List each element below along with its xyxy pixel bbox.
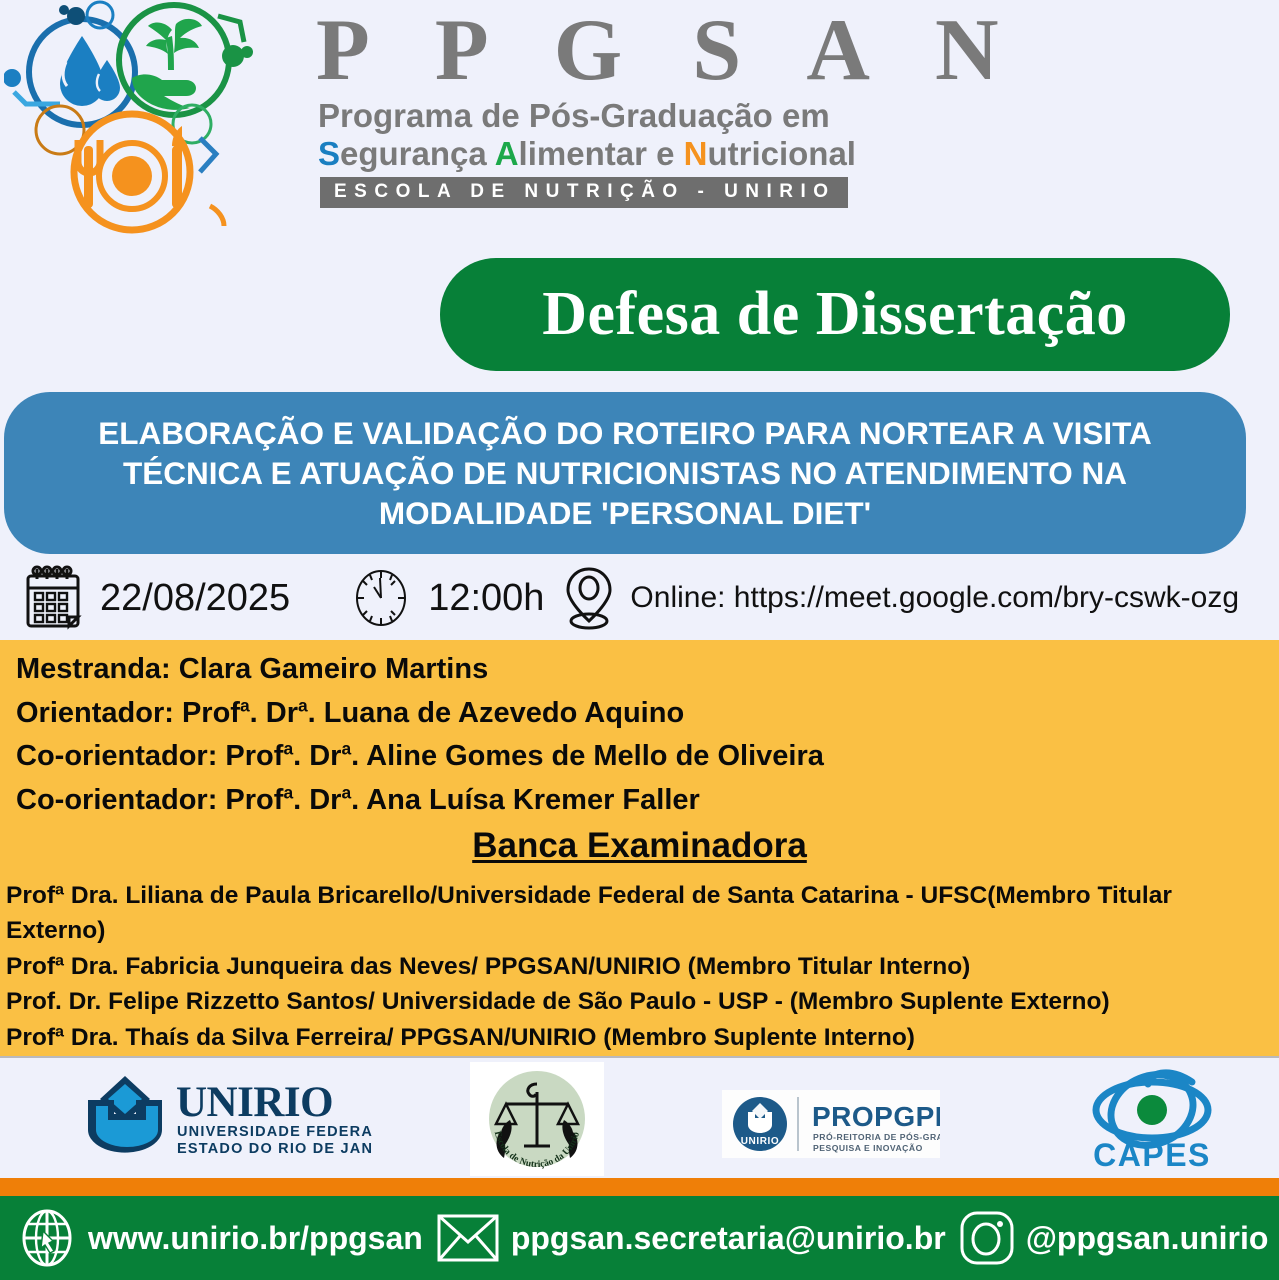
poster-root: P P G S A N Programa de Pós-Graduação em… (0, 0, 1279, 1280)
unirio-logo-icon: UNIRIO UNIVERSIDADE FEDERAL DO ESTADO DO… (72, 1074, 372, 1164)
coadvisor1-name: Aline Gomes de Mello de Oliveira (366, 740, 824, 772)
coadvisor1-label: Co-orientador: (16, 740, 217, 772)
student-label: Mestranda: (16, 653, 171, 685)
advisor-title-sup-a: a (240, 695, 250, 715)
svg-text:UNIRIO: UNIRIO (176, 1079, 333, 1126)
svg-text:PESQUISA E INOVAÇÃO: PESQUISA E INOVAÇÃO (813, 1143, 923, 1153)
escola-nutricao-logo-icon: Escola de Nutrição da Unirio (470, 1062, 604, 1176)
event-location: Online: https://meet.google.com/bry-cswk… (560, 563, 1239, 633)
contact-footer: www.unirio.br/ppgsan ppgsan.secretaria@u… (0, 1196, 1279, 1280)
advisor-name: Luana de Azevedo Aquino (324, 697, 684, 729)
event-meta-row: 22/08/2025 12:00h Online: https:/ (0, 558, 1279, 638)
ppgsan-word-alimentar: limentar e (519, 135, 684, 172)
svg-text:PROPGPI: PROPGPI (812, 1101, 940, 1132)
footer-email[interactable]: ppgsan.secretaria@unirio.br (435, 1209, 946, 1267)
event-time-text: 12:00h (428, 577, 544, 620)
footer-instagram-text: @ppgsan.unirio (1026, 1220, 1269, 1257)
ppgsan-logo-wordmark: P P G S A N Programa de Pós-Graduação em… (310, 4, 1023, 208)
footer-website-text: www.unirio.br/ppgsan (88, 1220, 423, 1257)
coadvisor2-row: Co-orientador: Profa. Dra. Ana Luísa Kre… (0, 779, 1279, 823)
orange-divider (0, 1178, 1279, 1196)
list-item: Prof. Dr. Felipe Rizzetto Santos/ Univer… (6, 984, 1271, 1020)
instagram-icon (958, 1209, 1016, 1267)
globe-icon (18, 1207, 76, 1269)
student-name: Clara Gameiro Martins (179, 653, 488, 685)
capes-logo-icon: CAPES (1080, 1066, 1240, 1176)
unirio-logo: UNIRIO UNIVERSIDADE FEDERAL DO ESTADO DO… (72, 1074, 372, 1169)
ppgsan-initial-a: A (495, 135, 519, 172)
ppgsan-word-nutricional: utricional (707, 135, 856, 172)
ppgsan-subtitle-line2: Segurança Alimentar e Nutricional (310, 135, 856, 173)
clock-icon (350, 565, 412, 631)
defense-type-label: Defesa de Dissertação (542, 279, 1128, 350)
ppgsan-subtitle-line1: Programa de Pós-Graduação em (310, 97, 830, 135)
event-time: 12:00h (350, 565, 544, 631)
ppgsan-word-seguranca: egurança (340, 135, 495, 172)
svg-text:CAPES: CAPES (1093, 1137, 1211, 1173)
ppgsan-logo-mark (4, 0, 304, 240)
map-pin-icon (560, 563, 618, 633)
event-location-text: Online: https://meet.google.com/bry-cswk… (630, 581, 1239, 615)
dissertation-title: ELABORAÇÃO E VALIDAÇÃO DO ROTEIRO PARA N… (34, 413, 1216, 533)
footer-website[interactable]: www.unirio.br/ppgsan (18, 1207, 423, 1269)
advisor-title-sup-a2: a (298, 695, 308, 715)
dissertation-title-box: ELABORAÇÃO E VALIDAÇÃO DO ROTEIRO PARA N… (4, 392, 1246, 554)
ppgsan-initial-s: S (318, 135, 340, 172)
coadvisor1-row: Co-orientador: Profa. Dra. Aline Gomes d… (0, 735, 1279, 779)
committee-heading: Banca Examinadora (0, 824, 1279, 868)
sponsor-logo-band: UNIRIO UNIVERSIDADE FEDERAL DO ESTADO DO… (0, 1060, 1279, 1178)
svg-text:PRÓ-REITORIA DE PÓS-GRADUAÇÃO,: PRÓ-REITORIA DE PÓS-GRADUAÇÃO, (813, 1131, 940, 1142)
svg-text:ESTADO DO RIO DE JANEIRO: ESTADO DO RIO DE JANEIRO (177, 1141, 372, 1157)
advisor-row: Orientador: Profa. Dra. Luana de Azevedo… (0, 692, 1279, 736)
propgpi-logo: UNIRIO PROPGPI PRÓ-REITORIA DE PÓS-GRADU… (722, 1090, 940, 1163)
defense-type-banner: Defesa de Dissertação (440, 258, 1230, 371)
event-date: 22/08/2025 (22, 565, 290, 631)
ppgsan-logo-header: P P G S A N Programa de Pós-Graduação em… (0, 0, 1279, 250)
propgpi-logo-icon: UNIRIO PROPGPI PRÓ-REITORIA DE PÓS-GRADU… (722, 1090, 940, 1158)
coadvisor2-label: Co-orientador: (16, 784, 217, 816)
footer-instagram[interactable]: @ppgsan.unirio (958, 1209, 1269, 1267)
list-item: Profª Dra. Liliana de Paula Bricarello/U… (6, 878, 1271, 949)
ppgsan-school-strip: ESCOLA DE NUTRIÇÃO - UNIRIO (320, 177, 848, 208)
list-item: Profª Dra. Thaís da Silva Ferreira/ PPGS… (6, 1020, 1271, 1056)
coadvisor2-title-sup-a: a (283, 782, 293, 802)
ppgsan-acronym: P P G S A N (310, 4, 1023, 97)
footer-email-text: ppgsan.secretaria@unirio.br (511, 1220, 946, 1257)
ppgsan-initial-n: N (684, 135, 708, 172)
coadvisor2-name: Ana Luísa Kremer Faller (366, 784, 700, 816)
coadvisor2-title-sup-a2: a (341, 782, 351, 802)
student-row: Mestranda: Clara Gameiro Martins (0, 648, 1279, 692)
committee-list: Profª Dra. Liliana de Paula Bricarello/U… (0, 878, 1279, 1056)
coadvisor1-title-sup-a2: a (341, 738, 351, 758)
calendar-icon (22, 565, 84, 631)
ppgsan-emblem-icon (4, 0, 304, 240)
coadvisor1-title-sup-a: a (283, 738, 293, 758)
event-date-text: 22/08/2025 (100, 577, 290, 620)
envelope-icon (435, 1209, 501, 1267)
svg-text:UNIRIO: UNIRIO (741, 1136, 780, 1147)
escola-nutricao-logo: Escola de Nutrição da Unirio (470, 1062, 604, 1181)
svg-text:UNIVERSIDADE FEDERAL DO: UNIVERSIDADE FEDERAL DO (177, 1124, 372, 1140)
capes-logo: CAPES (1080, 1066, 1240, 1181)
list-item: Profª Dra. Fabricia Junqueira das Neves/… (6, 949, 1271, 985)
advisor-label: Orientador: (16, 697, 174, 729)
people-panel: Mestranda: Clara Gameiro Martins Orienta… (0, 640, 1279, 1058)
